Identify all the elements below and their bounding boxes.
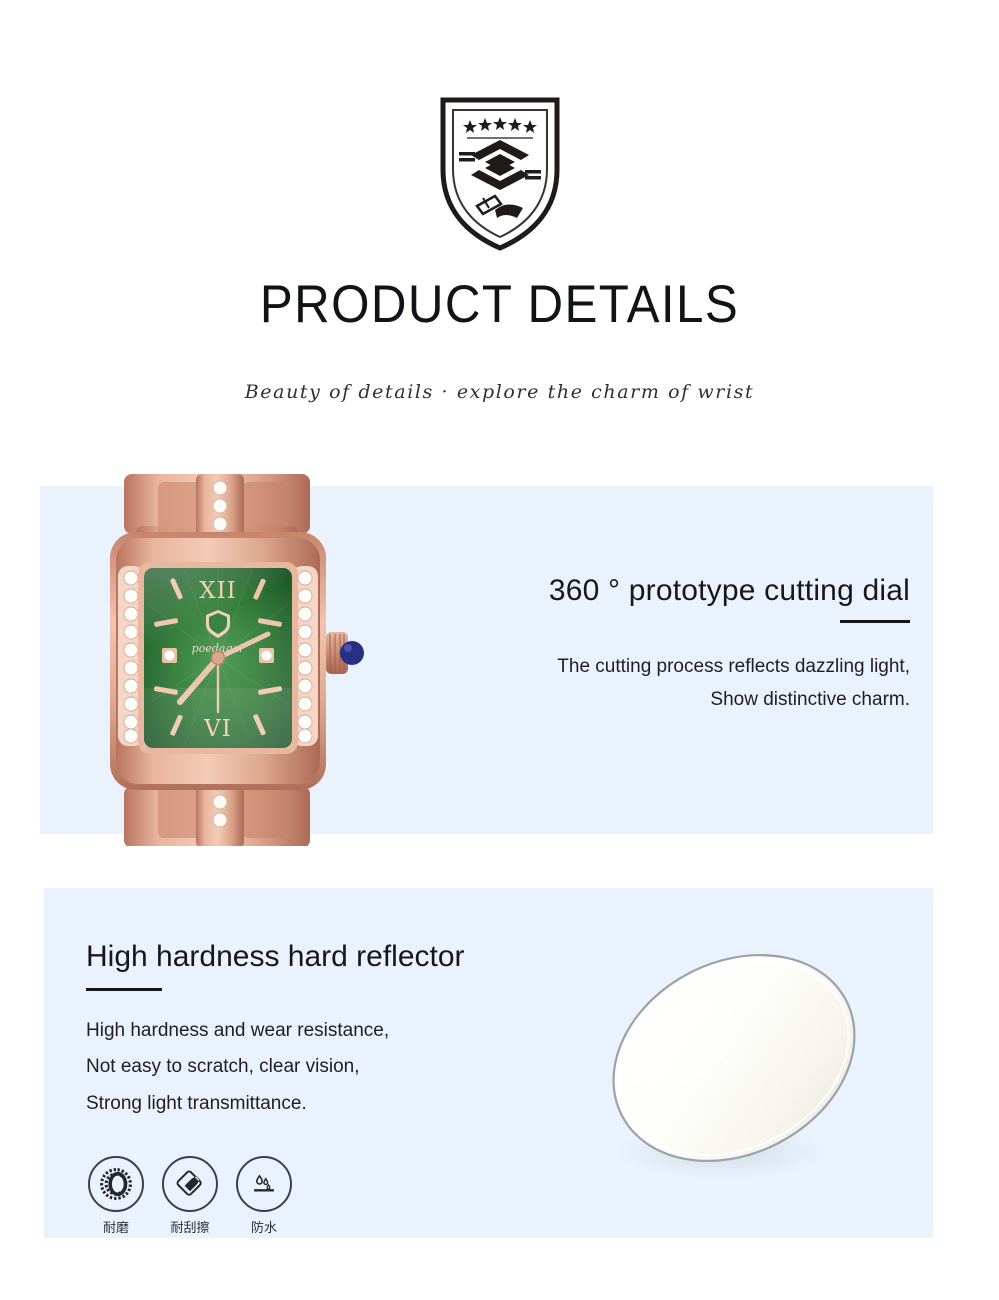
page-header: PRODUCT DETAILS Beauty of details · expl…	[0, 0, 999, 460]
dial-text-block: 360 ° prototype cutting dial The cutting…	[440, 574, 910, 716]
dial-body: The cutting process reflects dazzling li…	[440, 650, 910, 717]
feature-panel-dial: XII VI	[40, 486, 933, 834]
reflector-body-line: Not easy to scratch, clear vision,	[86, 1049, 566, 1086]
dial-body-line: Show distinctive charm.	[440, 683, 910, 716]
feature-label: 防水	[236, 1217, 292, 1236]
feature-item-wear-resistance: 耐磨	[88, 1156, 144, 1236]
page-title: PRODUCT DETAILS	[35, 278, 964, 331]
gear-wear-resistance-icon	[88, 1156, 144, 1212]
glass-lens-image	[574, 946, 894, 1196]
page-tagline: Beauty of details · explore the charm of…	[0, 381, 999, 403]
feature-panel-reflector: High hardness hard reflector High hardne…	[44, 888, 933, 1238]
reflector-body-line: High hardness and wear resistance,	[86, 1013, 566, 1050]
dial-body-line: The cutting process reflects dazzling li…	[440, 650, 910, 683]
waterproof-droplet-icon	[236, 1156, 292, 1212]
reflector-heading: High hardness hard reflector	[86, 940, 566, 975]
feature-label: 耐磨	[88, 1217, 144, 1236]
feature-item-scratch-resistance: 耐刮擦	[162, 1156, 218, 1236]
reflector-body: High hardness and wear resistance, Not e…	[86, 1013, 566, 1123]
feature-icon-row: 耐磨 耐刮擦 防水	[88, 1156, 292, 1236]
shield-emblem-logo-icon	[437, 92, 563, 252]
watch-product-image: XII VI	[92, 474, 402, 846]
scratch-resistance-icon	[162, 1156, 218, 1212]
reflector-text-block: High hardness hard reflector High hardne…	[86, 940, 566, 1122]
reflector-body-line: Strong light transmittance.	[86, 1086, 566, 1123]
feature-label: 耐刮擦	[162, 1217, 218, 1236]
dial-heading-rule	[840, 620, 910, 623]
reflector-heading-rule	[86, 988, 162, 991]
dial-heading: 360 ° prototype cutting dial	[440, 574, 910, 609]
feature-item-waterproof: 防水	[236, 1156, 292, 1236]
